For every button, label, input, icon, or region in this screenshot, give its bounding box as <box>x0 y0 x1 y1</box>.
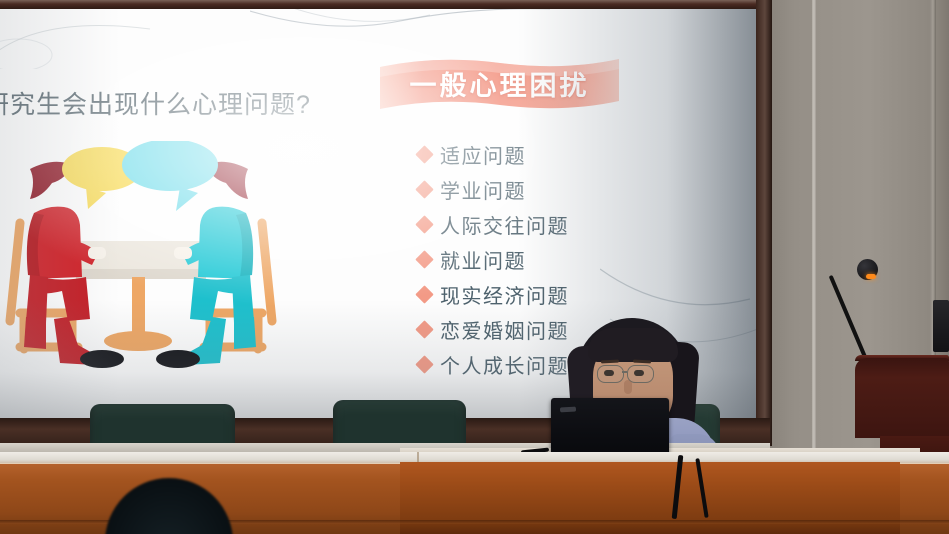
list-item: 适应问题 <box>418 137 569 172</box>
screen-frame-right <box>756 0 772 446</box>
diamond-bullet-icon <box>415 285 433 303</box>
diamond-bullet-icon <box>415 180 433 198</box>
slide-banner: 一般心理困扰 <box>378 53 621 113</box>
glasses-lens-right-icon <box>627 365 654 383</box>
list-item: 现实经济问题 <box>418 277 569 312</box>
list-item: 就业问题 <box>418 242 569 277</box>
presenter-fringe <box>588 328 678 362</box>
bullet-label: 学业问题 <box>440 175 526 204</box>
two-people-conversation-illustration <box>0 141 290 381</box>
bullet-label: 适应问题 <box>440 140 526 169</box>
decorative-swoosh-icon <box>250 9 550 45</box>
diamond-bullet-icon <box>415 215 433 233</box>
bullet-label: 就业问题 <box>440 245 526 274</box>
diamond-bullet-icon <box>415 145 433 163</box>
podium <box>855 358 949 438</box>
diamond-bullet-icon <box>415 250 433 268</box>
bullet-label: 人际交往问题 <box>440 210 569 239</box>
screen-frame-top <box>0 0 770 9</box>
decorative-swoosh-corner-icon <box>0 9 160 69</box>
bullet-label: 现实经济问题 <box>440 280 569 309</box>
list-item: 人际交往问题 <box>418 207 569 242</box>
laptop-logo-icon <box>560 407 576 413</box>
diamond-bullet-icon <box>415 355 433 373</box>
glasses-lens-left-icon <box>597 365 624 383</box>
slide-heading: 研究生会出现什么心理问题? <box>0 85 314 121</box>
lecture-room-photo: 研究生会出现什么心理问题? <box>0 0 949 534</box>
podium-equipment <box>933 300 949 352</box>
diamond-bullet-icon <box>415 320 433 338</box>
glasses-bridge <box>622 371 627 373</box>
microphone-status-led <box>866 274 876 279</box>
laptop[interactable] <box>551 398 669 460</box>
presenter-nose <box>624 380 632 394</box>
list-item: 学业问题 <box>418 172 569 207</box>
slide-banner-title: 一般心理困扰 <box>378 53 621 113</box>
